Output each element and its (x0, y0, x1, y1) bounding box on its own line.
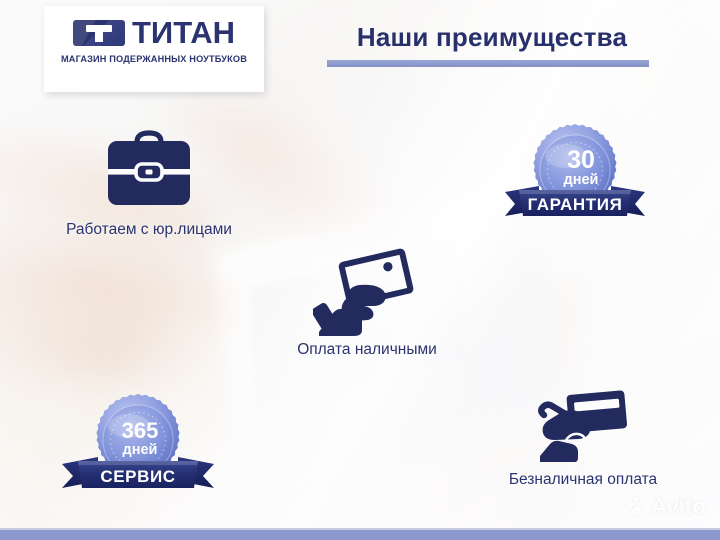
feature-label: Оплата наличными (262, 341, 472, 359)
badge-unit: дней (564, 172, 599, 188)
badge-warranty: 30 дней ГАРАНТИЯ (495, 118, 655, 230)
badge-service: 365 дней СЕРВИС (58, 388, 218, 500)
titan-t-mark-icon (73, 20, 125, 46)
badge-unit: дней (123, 442, 158, 458)
badge-ribbon-label: ГАРАНТИЯ (528, 195, 623, 214)
hand-holding-cash-icon (262, 244, 472, 336)
bottom-accent-bar (0, 528, 720, 540)
feature-cashless-payment: Безналичная оплата (478, 386, 688, 489)
page-title-text: Наши преимущества (327, 24, 657, 51)
rosette-medal-icon: 30 дней ГАРАНТИЯ (495, 118, 655, 230)
hand-holding-credit-card-icon (478, 386, 688, 462)
avito-dots-icon (627, 497, 646, 516)
ad-banner: ТИТАН МАГАЗИН ПОДЕРЖАННЫХ НОУТБУКОВ Наши… (0, 0, 720, 540)
feature-cash-payment: Оплата наличными (262, 244, 472, 359)
badge-ribbon-label: СЕРВИС (100, 467, 175, 486)
brand-wordmark: ТИТАН (132, 17, 235, 48)
rosette-medal-icon: 365 дней СЕРВИС (58, 388, 218, 500)
badge-number: 30 (567, 146, 595, 174)
title-underline-rule (327, 60, 649, 67)
feature-label: Безналичная оплата (478, 471, 688, 489)
brand-logo-row: ТИТАН (73, 17, 235, 48)
page-title: Наши преимущества (327, 24, 657, 67)
brand-tagline: МАГАЗИН ПОДЕРЖАННЫХ НОУТБУКОВ (61, 54, 247, 64)
feature-label: Работаем с юр.лицами (24, 221, 274, 239)
brand-logo-card: ТИТАН МАГАЗИН ПОДЕРЖАННЫХ НОУТБУКОВ (44, 6, 264, 92)
badge-number: 365 (122, 418, 159, 443)
briefcase-icon (24, 122, 274, 212)
avito-watermark: Avito (627, 495, 706, 518)
avito-wordmark: Avito (651, 495, 706, 518)
feature-legal-entities: Работаем с юр.лицами (24, 122, 274, 239)
